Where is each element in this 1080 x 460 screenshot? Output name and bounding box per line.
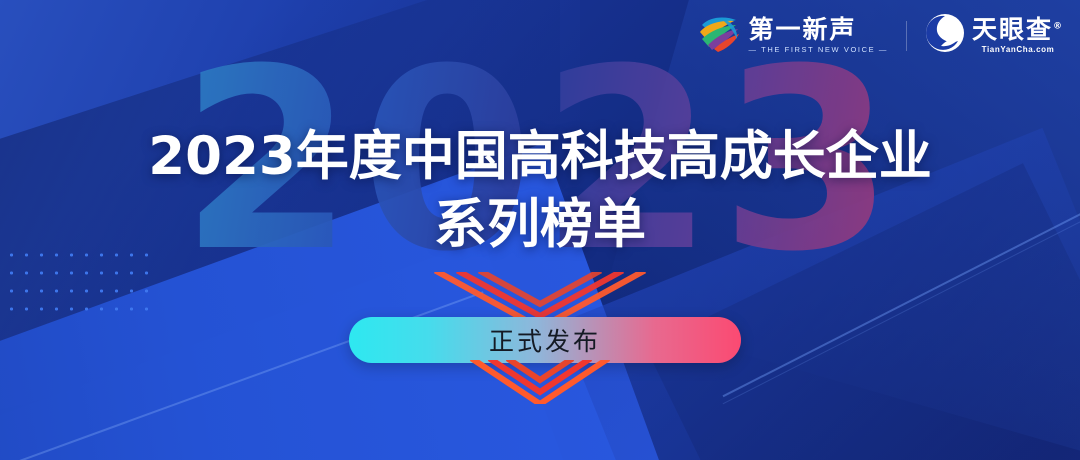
title-block: 2023年度中国高科技高成长企业 系列榜单 <box>0 126 1080 256</box>
promo-banner: 2023 第一新声 — THE FIRST NEW VOICE — <box>0 0 1080 460</box>
tianyancha-text: 天眼查® TianYanCha.com <box>972 17 1064 54</box>
logo-bar: 第一新声 — THE FIRST NEW VOICE — 天眼查® TianYa… <box>696 12 1064 59</box>
tianyancha-trademark: ® <box>1053 22 1064 32</box>
diyixinsheng-name: 第一新声 <box>749 17 888 42</box>
logo-diyixinsheng[interactable]: 第一新声 — THE FIRST NEW VOICE — <box>696 12 888 59</box>
page-title-line-1: 2023年度中国高科技高成长企业 <box>0 126 1080 188</box>
tianyancha-tagline: TianYanCha.com <box>972 46 1064 54</box>
diyixinsheng-tagline: — THE FIRST NEW VOICE — <box>749 46 888 54</box>
tianyancha-name-cn: 天眼查 <box>972 15 1053 44</box>
logo-divider <box>906 21 907 51</box>
tianyancha-name: 天眼查® <box>972 17 1064 42</box>
diyixinsheng-mark-icon <box>696 12 742 59</box>
publish-button[interactable]: 正式发布 <box>349 317 741 363</box>
chevron-decoration-bottom <box>0 360 1080 400</box>
page-title-line-2: 系列榜单 <box>0 194 1080 256</box>
diyixinsheng-text: 第一新声 — THE FIRST NEW VOICE — <box>749 17 888 54</box>
logo-tianyancha[interactable]: 天眼查® TianYanCha.com <box>925 13 1064 58</box>
tianyancha-mark-icon <box>925 13 965 58</box>
